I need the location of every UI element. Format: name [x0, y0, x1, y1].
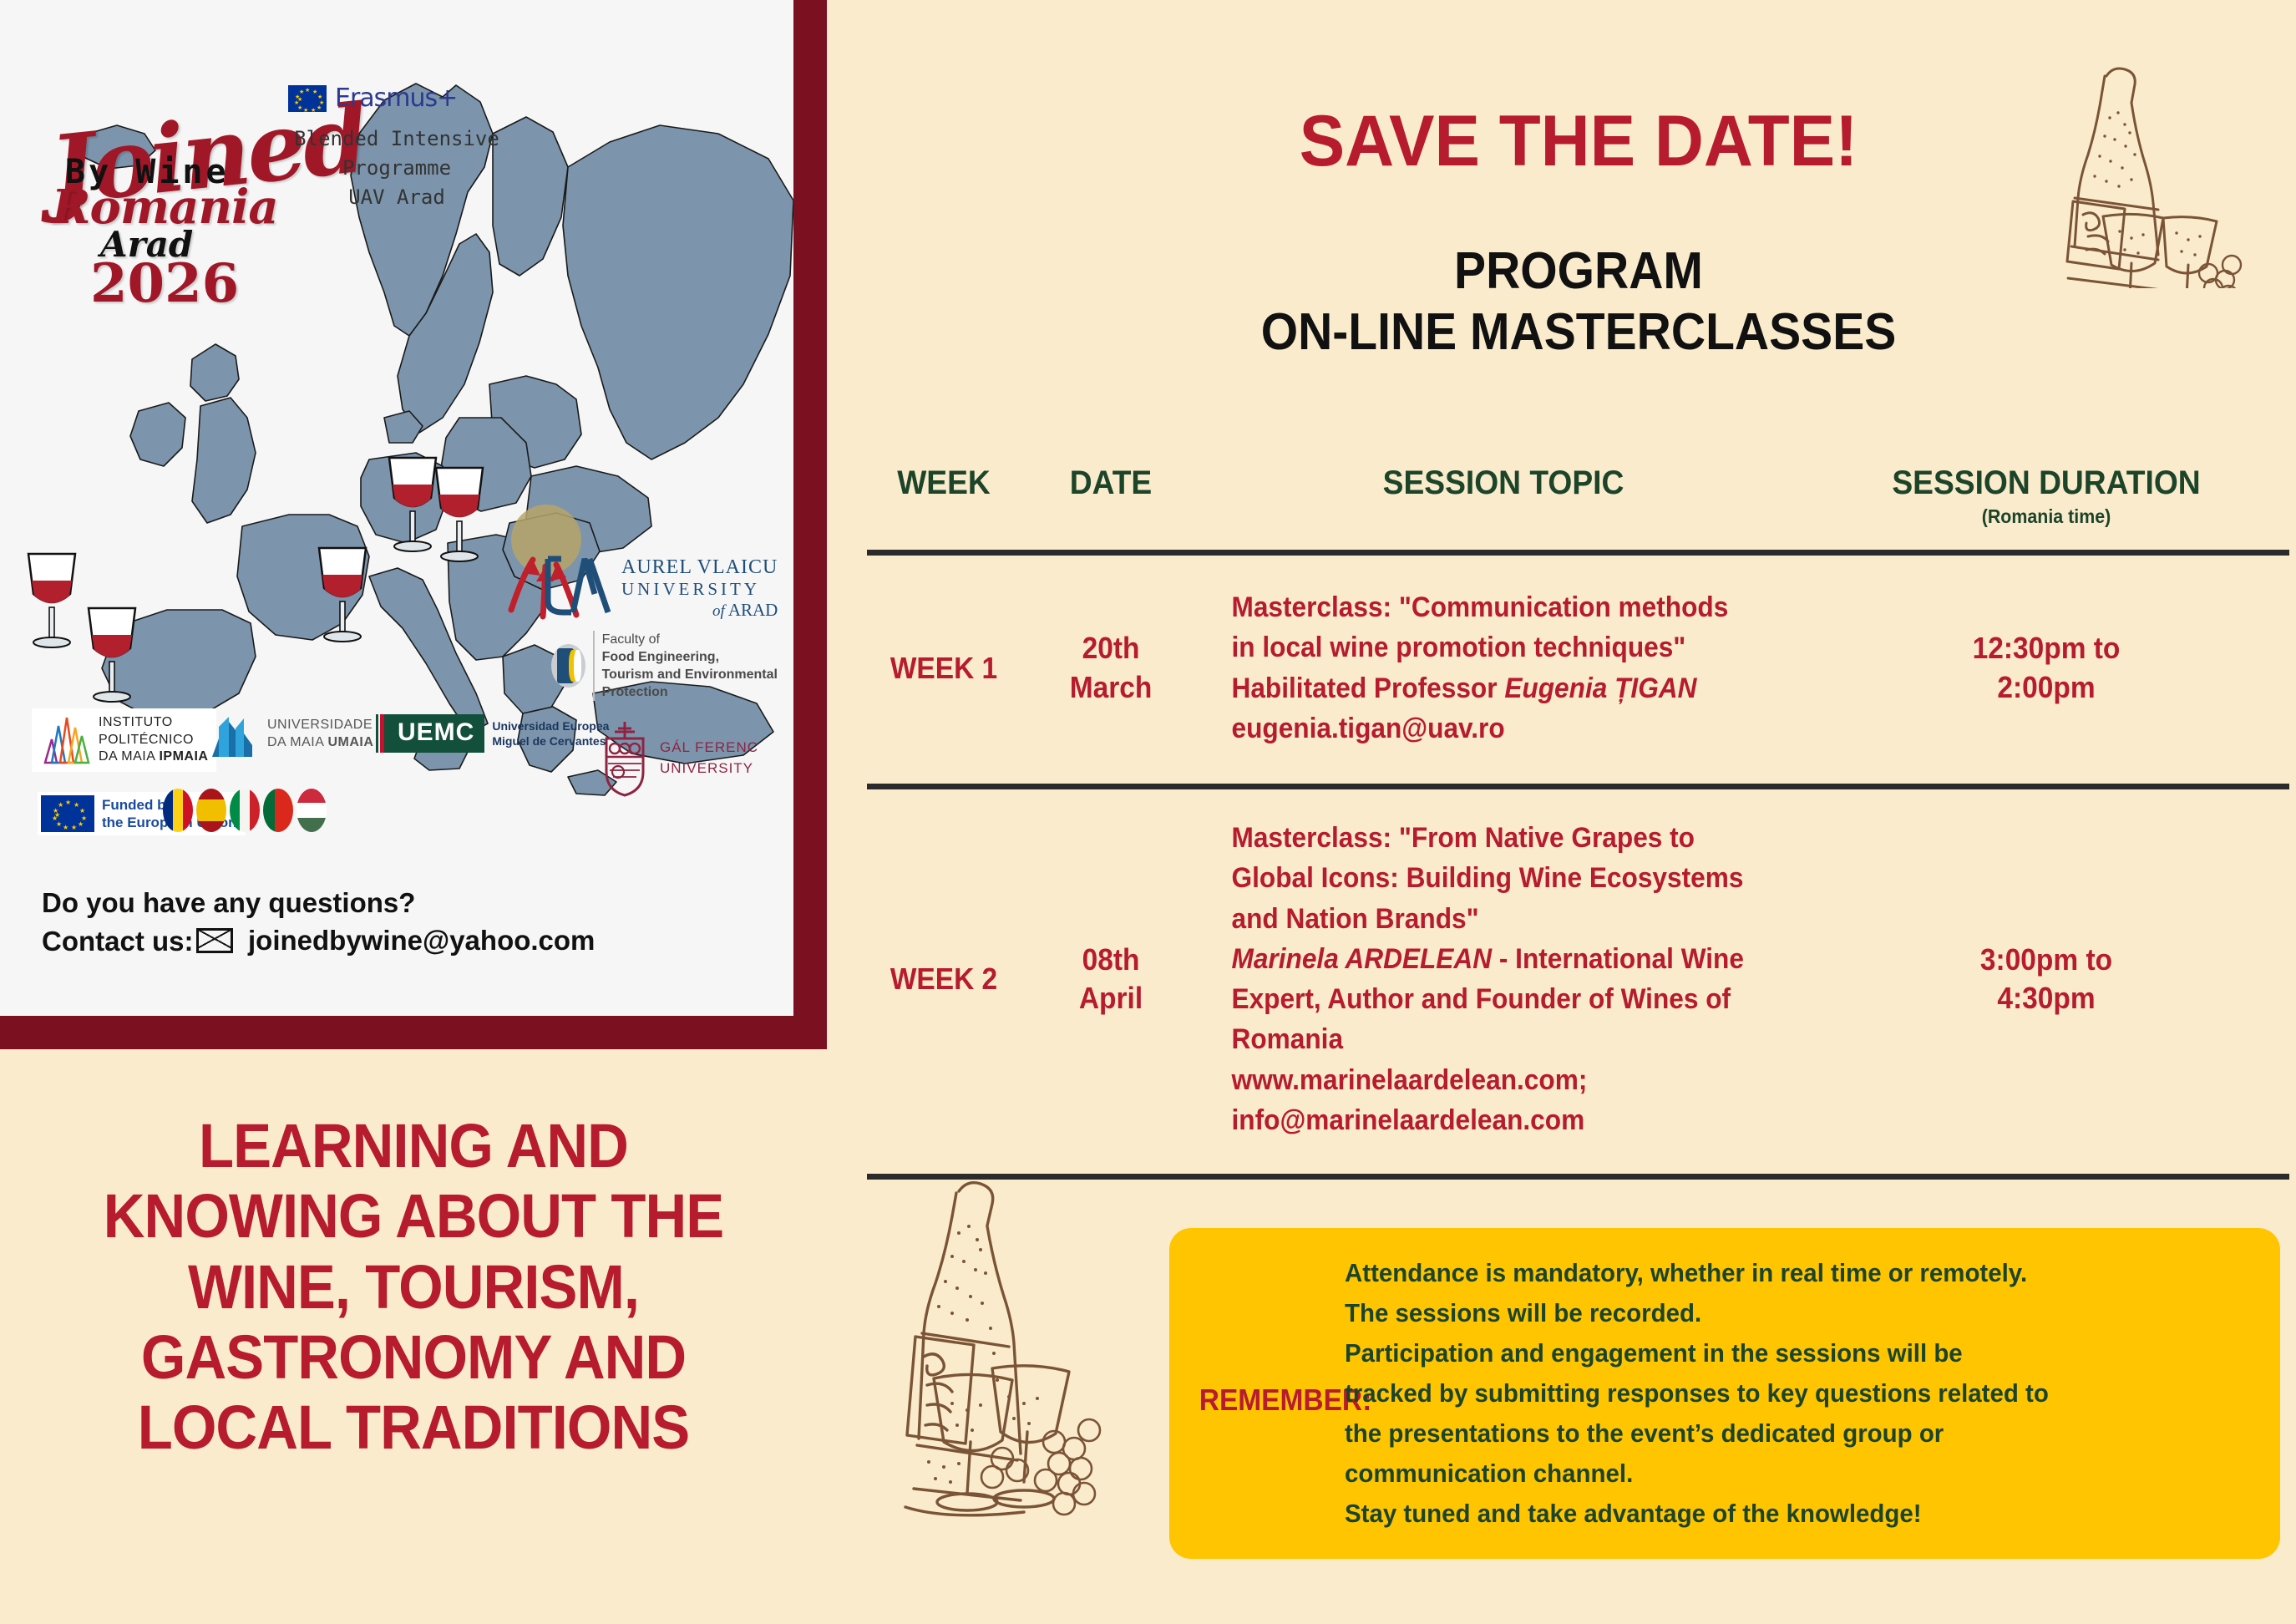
program-title-line-2: ON-LINE MASTERCLASSES — [1148, 302, 2009, 363]
faculty-line-3: Tourism and Environmental Protection — [602, 666, 793, 701]
row2-date: 08th April — [1033, 941, 1189, 1018]
flag-romania — [163, 789, 193, 832]
slogan-block: LEARNING AND KNOWING ABOUT THE WINE, TOU… — [29, 1111, 798, 1464]
table-row: WEEK 2 08th April Masterclass: "From Nat… — [860, 789, 2296, 1174]
wine-bottle-illustration-bottom — [869, 1170, 1144, 1587]
row2-date-line-2: April — [1033, 979, 1189, 1018]
slogan-line-2: KNOWING ABOUT THE — [29, 1181, 798, 1251]
row2-date-line-1: 08th — [1033, 941, 1189, 979]
col-header-duration: SESSION DURATION (Romania time) — [1829, 464, 2264, 528]
program-table: WEEK DATE SESSION TOPIC SESSION DURATION… — [860, 434, 2296, 1180]
ipmaia-mark-icon — [40, 714, 92, 766]
remember-line-5: the presentations to the event’s dedicat… — [1345, 1413, 2207, 1454]
slogan-line-1: LEARNING AND — [29, 1111, 798, 1181]
program-title: PROGRAM ON-LINE MASTERCLASSES — [1148, 241, 2009, 363]
row2-duration: 3:00pm to 4:30pm — [1829, 941, 2264, 1018]
row1-topic-line-2: in local wine promotion techniques" — [1232, 627, 1792, 667]
slogan-line-5: LOCAL TRADITIONS — [29, 1393, 798, 1463]
envelope-icon — [196, 928, 233, 953]
remember-line-4: tracked by submitting responses to key q… — [1345, 1373, 2207, 1413]
slogan-line-4: GASTRONOMY AND — [29, 1322, 798, 1393]
uav-monogram-icon — [543, 556, 615, 623]
remember-line-7: Stay tuned and take advantage of the kno… — [1345, 1494, 2207, 1534]
bip-line-3: UAV Arad — [288, 183, 505, 212]
row1-duration-line-1: 12:30pm to — [1829, 629, 2264, 667]
umaia-line-1: UNIVERSIDADE — [267, 717, 373, 734]
row2-topic-line-1: Masterclass: "From Native Grapes to — [1232, 818, 1792, 858]
wine-bottle-illustration-top — [2005, 38, 2255, 288]
contact-email[interactable]: joinedbywine@yahoo.com — [248, 925, 595, 957]
eu-flag-icon: ★ ★ ★ ★ ★ ★ ★ ★ ★ ★ ★ ★ — [288, 85, 327, 112]
program-title-line-1: PROGRAM — [1148, 241, 2009, 302]
row1-topic: Masterclass: "Communication methods in l… — [1216, 587, 1791, 749]
uemc-line-1: Universidad Europea — [492, 718, 609, 733]
wine-glass-marker-italy — [307, 541, 378, 648]
uemc-logo: UEMC Universidad Europea Miguel de Cerva… — [380, 714, 609, 753]
uemc-wordmark: Universidad Europea Miguel de Cervantes — [492, 718, 609, 749]
row2-duration-line-1: 3:00pm to — [1829, 941, 2264, 979]
gal-line-1: GÁL FERENC — [660, 737, 758, 759]
row2-speaker-website[interactable]: www.marinelaardelean.com; — [1232, 1060, 1792, 1100]
row1-week: WEEK 1 — [866, 651, 1021, 686]
partner-country-flags — [163, 789, 327, 832]
uav-line-1: AUREL VLAICU — [621, 556, 778, 579]
wine-glass-marker-romania — [424, 461, 494, 568]
col-header-week: WEEK — [866, 464, 1021, 528]
umaia-logo: UNIVERSIDADE DA MAIA UMAIA — [209, 708, 373, 760]
faculty-badge-icon — [551, 644, 585, 688]
uav-line-2: UNIVERSITY — [621, 579, 778, 600]
row1-date-line-1: 20th — [1033, 629, 1189, 667]
flag-portugal — [263, 789, 293, 832]
save-the-date-title: SAVE THE DATE! — [1229, 100, 1928, 183]
row2-topic-line-3: and Nation Brands" — [1232, 899, 1792, 939]
row2-speaker-email[interactable]: info@marinelaardelean.com — [1232, 1100, 1792, 1140]
remember-box: REMEMBER: Attendance is mandatory, wheth… — [1169, 1228, 2280, 1559]
erasmus-label: Erasmus+ — [335, 84, 457, 113]
bip-line-1: Blended Intensive — [288, 124, 505, 154]
remember-line-6: communication channel. — [1345, 1454, 2207, 1494]
row1-duration: 12:30pm to 2:00pm — [1829, 629, 2264, 706]
row2-duration-line-2: 4:30pm — [1829, 979, 2264, 1018]
table-row: WEEK 1 20th March Masterclass: "Communic… — [860, 556, 2296, 784]
eu-flag-icon-2: ★ ★ ★ ★ ★ ★ ★ ★ ★ ★ ★ ★ — [41, 795, 94, 832]
uemc-line-2: Miguel de Cervantes — [492, 733, 609, 749]
remember-section: REMEMBER: Attendance is mandatory, wheth… — [1169, 1228, 2280, 1559]
row1-speaker-contact[interactable]: eugenia.tigan@uav.ro — [1232, 708, 1792, 749]
faculty-wordmark: Faculty of Food Engineering, Tourism and… — [593, 631, 793, 701]
umaia-line-2: DA MAIA UMAIA — [267, 734, 373, 752]
faculty-line-1: Faculty of — [602, 631, 793, 648]
row1-speaker: Habilitated Professor Eugenia ȚIGAN — [1232, 668, 1792, 708]
remember-line-1: Attendance is mandatory, whether in real… — [1345, 1253, 2207, 1293]
umaia-wordmark: UNIVERSIDADE DA MAIA UMAIA — [267, 717, 373, 752]
gal-wordmark: GÁL FERENC UNIVERSITY — [660, 737, 758, 779]
ipmaia-logo: INSTITUTO POLITÉCNICO DA MAIA IPMAIA — [32, 708, 216, 772]
faculty-line-2: Food Engineering, — [602, 648, 793, 666]
ipmaia-line-2: POLITÉCNICO — [99, 732, 208, 749]
row1-date: 20th March — [1033, 629, 1189, 706]
col-header-date: DATE — [1033, 464, 1189, 528]
uav-wordmark: AUREL VLAICU UNIVERSITY of ARAD — [621, 556, 778, 621]
aurel-vlaicu-university-logo: AUREL VLAICU UNIVERSITY of ARAD — [543, 556, 778, 623]
gal-ferenc-university-logo: GÁL FERENC UNIVERSITY — [600, 720, 758, 795]
uav-line-3: of ARAD — [621, 600, 778, 621]
ipmaia-line-1: INSTITUTO — [99, 714, 208, 731]
uemc-mark: UEMC — [380, 714, 484, 753]
col-header-duration-sub: (Romania time) — [1829, 505, 2264, 528]
row2-speaker: Marinela ARDELEAN - International Wine E… — [1232, 939, 1792, 1060]
row1-duration-line-2: 2:00pm — [1829, 668, 2264, 707]
row2-topic: Masterclass: "From Native Grapes to Glob… — [1216, 818, 1791, 1140]
erasmus-logo-block: ★ ★ ★ ★ ★ ★ ★ ★ ★ ★ ★ ★ Erasmus+ Blended… — [288, 84, 505, 211]
col-header-duration-main: SESSION DURATION — [1892, 464, 2200, 501]
gal-line-2: UNIVERSITY — [660, 758, 758, 779]
row2-topic-line-2: Global Icons: Building Wine Ecosystems — [1232, 858, 1792, 898]
ipmaia-line-3: DA MAIA IPMAIA — [99, 749, 208, 765]
flag-hungary — [297, 789, 327, 832]
contact-question: Do you have any questions? — [42, 884, 595, 922]
brand-year: 2026 — [90, 252, 239, 315]
remember-line-2: The sessions will be recorded. — [1345, 1293, 2207, 1333]
contact-email-row[interactable]: joinedbywine@yahoo.com — [196, 925, 595, 957]
umaia-mark-icon — [209, 708, 261, 760]
flag-spain — [196, 789, 226, 832]
contact-block: Do you have any questions? Contact us: j… — [42, 884, 595, 957]
remember-line-3: Participation and engagement in the sess… — [1345, 1333, 2207, 1373]
faculty-logo: Faculty of Food Engineering, Tourism and… — [551, 631, 793, 701]
wine-glass-marker-spain — [77, 601, 147, 708]
col-header-topic: SESSION TOPIC — [1216, 464, 1791, 528]
ipmaia-wordmark: INSTITUTO POLITÉCNICO DA MAIA IPMAIA — [99, 714, 208, 765]
row1-date-line-2: March — [1033, 668, 1189, 707]
table-divider-top — [867, 550, 2289, 556]
bip-line-2: Programme — [288, 154, 505, 183]
bip-programme-text: Blended Intensive Programme UAV Arad — [288, 124, 505, 211]
row1-topic-line-1: Masterclass: "Communication methods — [1232, 587, 1792, 627]
right-panel: SAVE THE DATE! PROGRAM ON-LINE MASTERCLA… — [860, 0, 2296, 1624]
left-panel-card: Joined By Wine Romania Arad 2026 ★ ★ ★ ★… — [0, 0, 827, 1049]
table-header-row: WEEK DATE SESSION TOPIC SESSION DURATION… — [860, 434, 2296, 550]
table-divider-middle — [867, 784, 2289, 789]
row2-week: WEEK 2 — [866, 962, 1021, 997]
flag-italy — [230, 789, 260, 832]
slogan-line-3: WINE, TOURISM, — [29, 1252, 798, 1322]
